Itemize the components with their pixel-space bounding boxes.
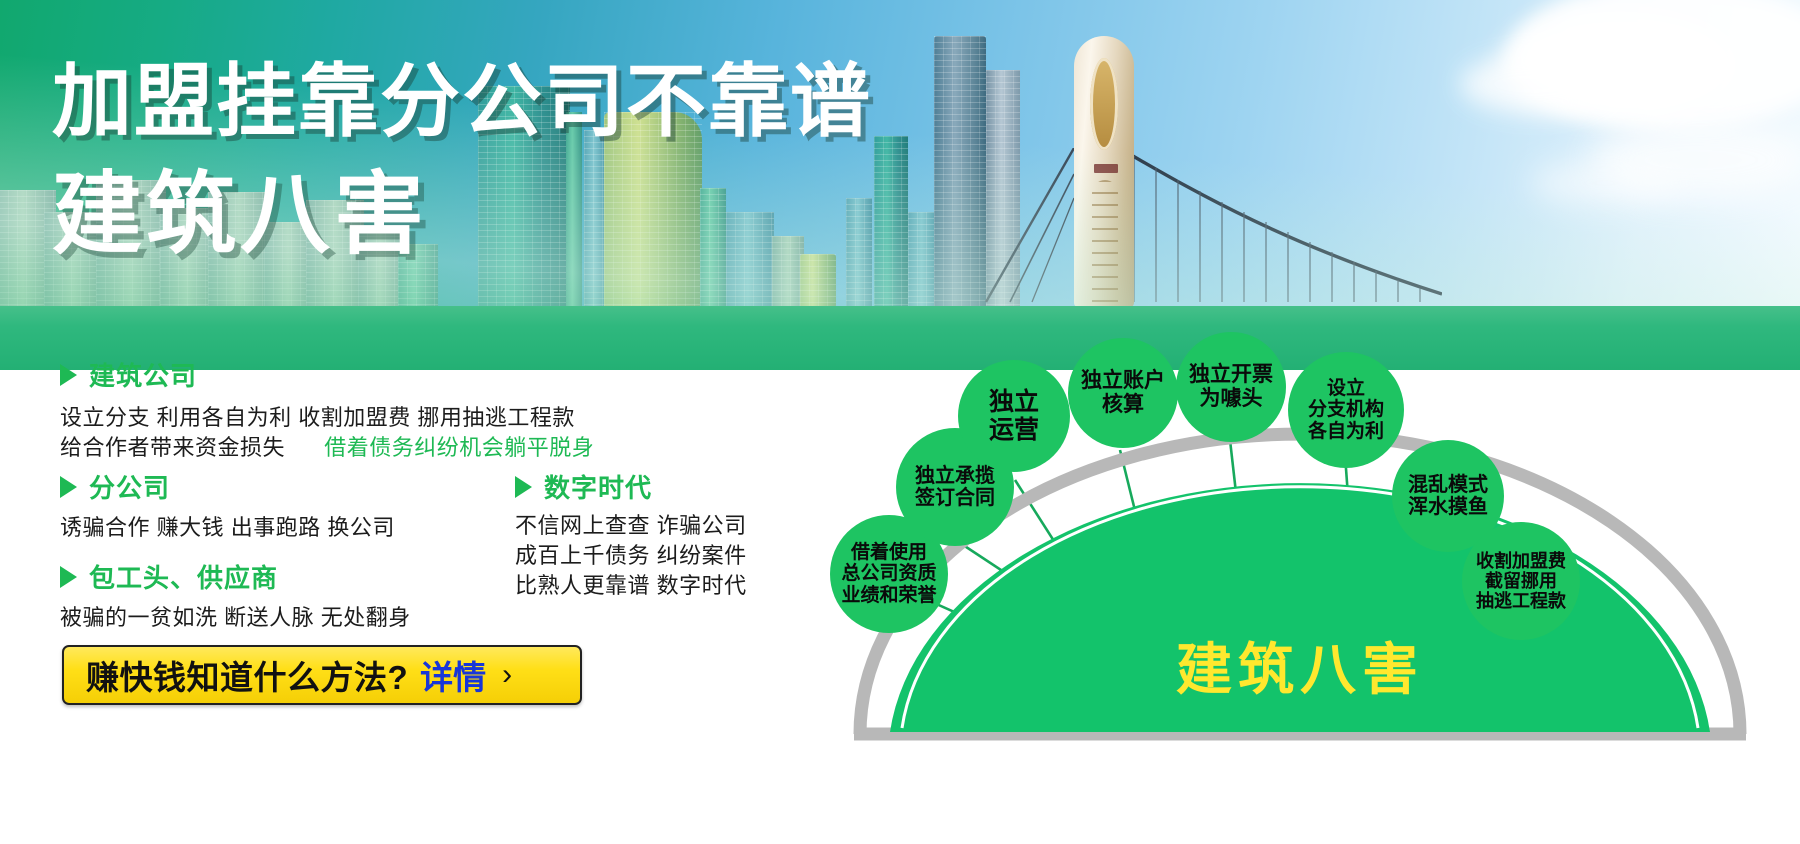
- section-line: 不信网上查查 诈骗公司: [515, 508, 747, 540]
- section-heading-digital-age: 数字时代: [515, 468, 652, 505]
- section-line-row: 给合作者带来资金损失 借着债务纠纷机会躺平脱身: [60, 430, 594, 462]
- bubble-line: 运营: [989, 416, 1039, 444]
- bubble-line: 抽逃工程款: [1476, 591, 1566, 611]
- bubble-item[interactable]: 独立开票 为噱头: [1176, 332, 1286, 442]
- bubble-line: 独立承揽: [915, 465, 995, 487]
- bubble-item[interactable]: 独立 运营: [958, 360, 1070, 472]
- hero-title-line2: 建筑八害: [52, 170, 428, 260]
- bubble-line: 借着使用: [841, 542, 936, 563]
- hero-title-line1: 加盟挂靠分公司不靠谱: [52, 62, 872, 142]
- section-line: 诱骗合作 赚大钱 出事跑路 换公司: [60, 510, 395, 542]
- section-heading-construction-company: 建筑公司: [60, 356, 197, 393]
- bubble-line: 收割加盟费: [1476, 551, 1566, 571]
- bubble-line: 独立开票: [1189, 363, 1273, 387]
- cta-button[interactable]: 赚快钱知道什么方法? 详情 ›: [62, 645, 582, 705]
- triangle-bullet-icon: [60, 364, 77, 386]
- bubble-item[interactable]: 独立账户 核算: [1068, 338, 1178, 448]
- left-content-column: 建筑公司 设立分支 利用各自为利 收割加盟费 挪用抽逃工程款 给合作者带来资金损…: [0, 370, 800, 844]
- triangle-bullet-icon: [60, 566, 77, 588]
- bubble-line: 总公司资质: [841, 563, 936, 584]
- bubble-line: 核算: [1081, 393, 1165, 417]
- bubble-line: 为噱头: [1189, 387, 1273, 411]
- poster-page: 加盟挂靠分公司不靠谱 建筑八害 建筑公司 设立分支 利用各自为利 收割加盟费 挪…: [0, 0, 1800, 844]
- bubble-line: 业绩和荣誉: [841, 585, 936, 606]
- bubble-line: 混乱模式: [1408, 474, 1488, 496]
- dome-center-label: 建筑八害: [800, 625, 1800, 706]
- triangle-bullet-icon: [515, 476, 532, 498]
- section-line: 设立分支 利用各自为利 收割加盟费 挪用抽逃工程款: [60, 400, 575, 432]
- section-line: 成百上千债务 纠纷案件: [515, 538, 747, 570]
- section-line-plain: 给合作者带来资金损失: [60, 435, 285, 460]
- bubble-line: 分支机构: [1308, 399, 1384, 420]
- section-title: 建筑公司: [89, 356, 197, 393]
- chevron-right-icon: ›: [502, 658, 512, 692]
- section-line: 比熟人更靠谱 数字时代: [515, 568, 747, 600]
- eight-harms-diagram: 建筑八害 借着使用 总公司资质 业绩和荣誉 独立承揽 签订合同 独立 运营: [800, 330, 1800, 844]
- triangle-bullet-icon: [60, 476, 77, 498]
- bubble-line: 各自为利: [1308, 421, 1384, 442]
- section-heading-branch-company: 分公司: [60, 468, 170, 505]
- section-title: 包工头、供应商: [89, 558, 278, 595]
- section-title: 数字时代: [544, 468, 652, 505]
- section-line: 被骗的一贫如洗 断送人脉 无处翻身: [60, 600, 411, 632]
- bubble-line: 设立: [1308, 378, 1384, 399]
- bubble-line: 独立账户: [1081, 369, 1165, 393]
- section-line-accent: 借着债务纠纷机会躺平脱身: [324, 435, 594, 460]
- bubble-line: 浑水摸鱼: [1408, 496, 1488, 518]
- section-heading-contractor-supplier: 包工头、供应商: [60, 558, 278, 595]
- bubble-line: 截留挪用: [1476, 571, 1566, 591]
- section-title: 分公司: [89, 468, 170, 505]
- cta-link-text[interactable]: 详情: [420, 651, 486, 699]
- cta-main-text: 赚快钱知道什么方法?: [86, 651, 408, 699]
- bubble-item[interactable]: 收割加盟费 截留挪用 抽逃工程款: [1462, 522, 1580, 640]
- bubble-line: 独立: [989, 388, 1039, 416]
- hero-banner: 加盟挂靠分公司不靠谱 建筑八害: [0, 0, 1800, 370]
- bubble-line: 签订合同: [915, 487, 995, 509]
- bubble-item[interactable]: 设立 分支机构 各自为利: [1288, 352, 1404, 468]
